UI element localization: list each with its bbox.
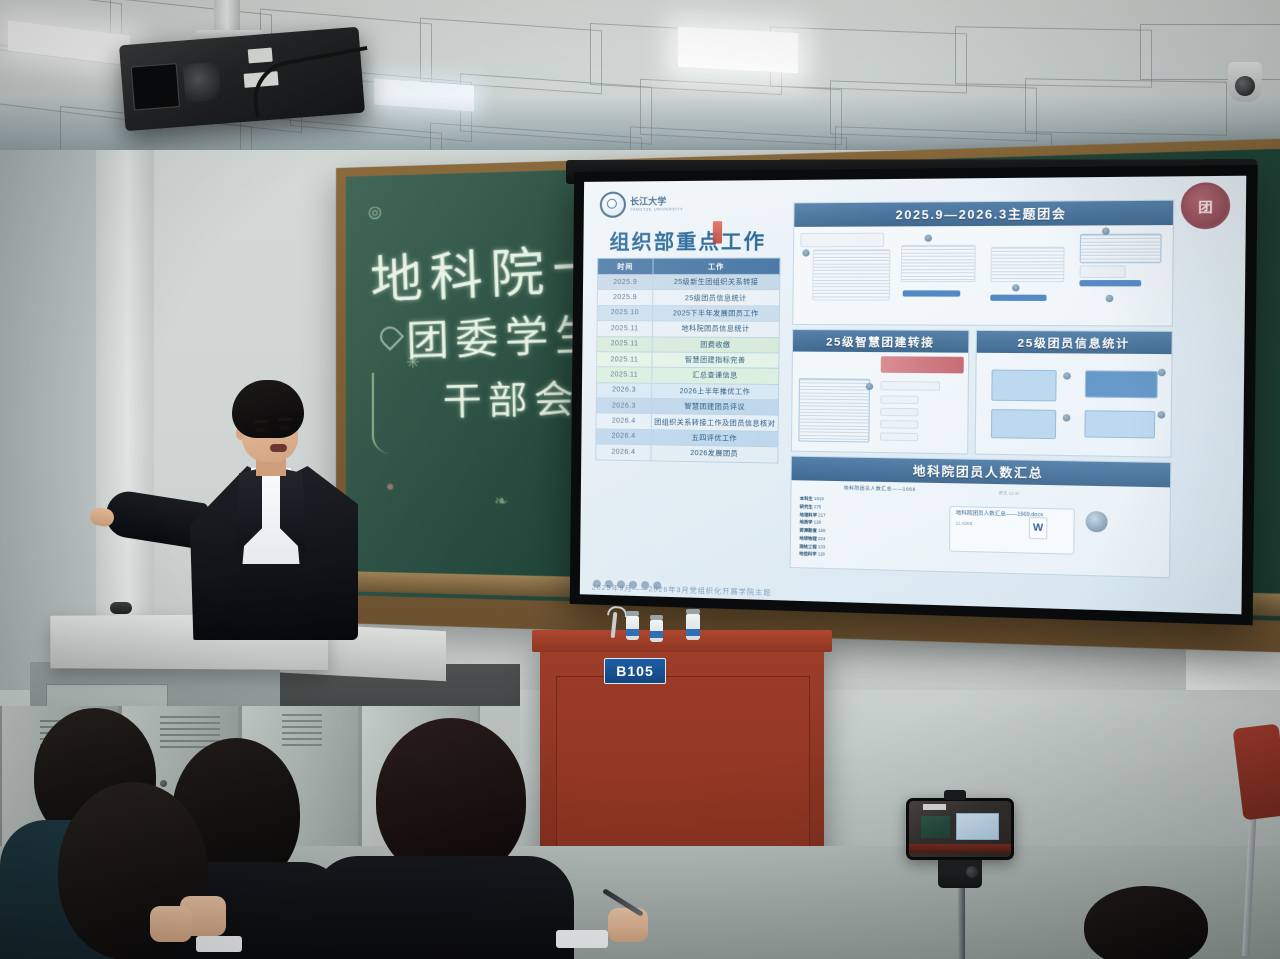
table-row: 2025.11团费收缴 <box>597 336 779 353</box>
classroom-presentation-photo: 地科院十四届 团委学生会 干部会议 2026.4.16 地球科学院 ◎ ✳ ● … <box>0 0 1280 959</box>
cell-time: 2025.11 <box>597 367 652 383</box>
shirt-cuff <box>196 936 242 952</box>
summary-stat-row: 地球物理 224 <box>799 534 825 543</box>
security-camera <box>1228 62 1262 102</box>
university-seal-icon <box>600 192 626 218</box>
cell-time: 2025.11 <box>597 321 652 337</box>
slide-caption: 2025年9月——2026年3月党组织化开展学院主题 <box>592 583 772 598</box>
cell-work: 2026发展团员 <box>651 445 778 463</box>
tripod-rod <box>958 880 965 959</box>
slide-title: 组织部重点工作 <box>609 225 766 255</box>
university-logo: 长江大学 YANGTZE UNIVERSITY <box>600 191 684 218</box>
room-number-plate: B105 <box>604 658 666 684</box>
youth-league-badge-icon: 团 <box>1181 182 1231 229</box>
table-header-time: 时间 <box>598 258 653 274</box>
university-name: 长江大学 <box>630 197 683 207</box>
water-bottle <box>626 616 639 640</box>
presenter <box>168 380 368 640</box>
table-row: 2025.11汇总查课信息 <box>597 367 779 384</box>
summary-stat-row: 本科生 1619 <box>800 495 826 503</box>
shirt-cuff <box>556 930 608 948</box>
cell-work: 汇总查课信息 <box>652 367 779 384</box>
summary-stat-row: 研究生 275 <box>800 503 826 512</box>
file-size: 11.43KB <box>956 520 1069 528</box>
table-row: 2025.925级新生团组织关系转接 <box>597 274 779 290</box>
table-row: 2025.102025下半年发展团员工作 <box>597 305 779 321</box>
summary-timestamp: 昨天 12:47 <box>999 490 1020 497</box>
docx-file-card[interactable]: 地科院团员人数汇总——1669.docx 11.43KB W <box>949 506 1075 555</box>
cell-work: 团费收缴 <box>652 336 779 352</box>
audience-head <box>1084 886 1208 959</box>
cell-time: 2025.11 <box>597 352 652 368</box>
work-schedule-table: 时间 工作 2025.925级新生团组织关系转接2025.925级团员信息统计2… <box>595 258 780 464</box>
presenter-mouth <box>270 444 287 452</box>
cell-time: 2025.11 <box>597 336 652 352</box>
cell-work: 2025下半年发展团员工作 <box>652 305 779 321</box>
water-bottle <box>650 620 663 642</box>
cell-work: 25级团员信息统计 <box>653 290 780 306</box>
table-row: 2025.925级团员信息统计 <box>597 290 779 306</box>
table-header-row: 时间 工作 <box>598 258 780 274</box>
summary-heading: 地科院团员人数汇总——1669 <box>844 485 916 493</box>
table-row: 2025.11地科院团员信息统计 <box>597 321 779 337</box>
panel-title-theme-meetings: 2025.9—2026.3主题团会 <box>794 201 1173 227</box>
university-name-en: YANGTZE UNIVERSITY <box>630 207 683 212</box>
cell-time: 2025.9 <box>597 274 652 289</box>
tripod-head <box>938 856 982 888</box>
file-name: 地科院团员人数汇总——1669.docx <box>956 510 1069 521</box>
phone-clip <box>944 790 966 800</box>
computer-mouse[interactable] <box>110 602 132 614</box>
smartphone-recording[interactable] <box>906 798 1014 860</box>
contact-avatar <box>1086 511 1108 532</box>
audience-shoulders <box>312 856 574 959</box>
cell-time: 2025.9 <box>597 290 652 306</box>
slide-content: 长江大学 YANGTZE UNIVERSITY 团 组织部重点工作 时间 工作 … <box>580 176 1246 615</box>
wall-column <box>96 150 154 670</box>
summary-stat-row: 地信科学 118 <box>799 550 825 559</box>
panel-member-info-stats: 25级团员信息统计 <box>975 330 1173 458</box>
water-bottle <box>686 614 700 640</box>
panel-theme-meetings: 2025.9—2026.3主题团会 <box>792 200 1174 327</box>
cell-work: 地科院团员信息统计 <box>652 321 779 337</box>
ceiling-light <box>678 27 798 73</box>
presenter-hair <box>232 380 304 438</box>
panel-title-member-info-stats: 25级团员信息统计 <box>977 331 1172 354</box>
projector-vent <box>131 63 180 110</box>
projection-screen: 长江大学 YANGTZE UNIVERSITY 团 组织部重点工作 时间 工作 … <box>570 165 1258 625</box>
cell-time: 2026.4 <box>596 413 651 429</box>
cell-time: 2026.3 <box>596 382 651 398</box>
podium-top-surface <box>532 630 832 652</box>
panel-member-count-summary: 地科院团员人数汇总 地科院团员人数汇总——1669 本科生 1619研究生 27… <box>790 456 1172 579</box>
cell-time: 2025.10 <box>597 305 652 321</box>
cell-work: 智慧团建指标完善 <box>652 352 779 369</box>
cell-time: 2026.4 <box>596 429 651 445</box>
panel-smart-league-transfer: 25级智慧团建转接 <box>791 329 970 454</box>
cell-work: 2026上半年推优工作 <box>652 383 779 400</box>
panel-title-smart-league-transfer: 25级智慧团建转接 <box>793 330 968 353</box>
presenter-cursor <box>713 221 722 243</box>
cell-work: 智慧团建团员评议 <box>651 398 778 415</box>
table-row: 2025.11智慧团建指标完善 <box>597 352 779 369</box>
cell-time: 2026.4 <box>596 444 651 460</box>
cell-work: 团组织关系转接工作及团员信息核对 <box>651 414 778 431</box>
table-header-work: 工作 <box>653 258 780 274</box>
word-file-icon: W <box>1029 517 1048 539</box>
table-row: 2026.42026发展团员 <box>596 444 778 463</box>
audience-hand <box>150 906 192 942</box>
projector-lens <box>183 62 222 103</box>
phone-screen <box>909 801 1011 857</box>
cell-time: 2026.3 <box>596 398 651 414</box>
cell-work: 25级新生团组织关系转接 <box>653 274 780 290</box>
